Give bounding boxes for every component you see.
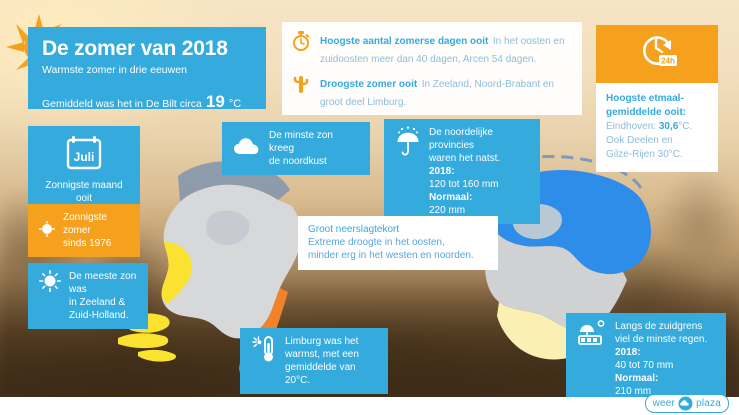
callout-text: Limburg was het warmst, met een gemiddel… [285,335,377,387]
callout-line-1: De noordelijke provincies [429,126,529,152]
callout-line-1: De meeste zon was [69,270,137,296]
callout-text: De meeste zon was in Zeeland & Zuid-Holl… [69,270,137,322]
callout-text: De minste zon kreeg de noordkust [269,129,359,168]
fact-title: Hoogste aantal zomerse dagen ooit [320,36,488,47]
callout-minste-zon: De minste zon kreeg de noordkust [222,122,370,175]
callout-line-1: De minste zon kreeg [269,129,359,155]
header-average-temperature: Gemiddeld was het in De Bilt circa 19 °C [42,92,252,112]
calendar-month-label: Juli [74,150,95,164]
callout-noordelijke-provincies: De noordelijke provincies waren het nats… [384,119,540,224]
cactus-icon [290,74,312,98]
logo-word-left: weer [653,398,675,409]
header-average-label: Gemiddeld was het in De Bilt circa [42,98,202,110]
bottom-strip [0,397,739,415]
callout-line-2: viel de minste regen. [615,333,707,346]
callout-line-1: Limburg was het [285,335,377,348]
stopwatch-icon [290,31,312,55]
callout-limburg-warmst: Limburg was het warmst, met een gemiddel… [240,328,388,394]
measure-label-2018: 2018: [615,347,641,358]
header-subtitle: Warmste zomer in drie eeuwen [42,64,252,76]
page-title: De zomer van 2018 [42,36,252,62]
fact-body: Hoogste aantal zomerse dagen ooit In het… [320,31,572,67]
callout-neerslagtekort: Groot neerslagtekort Extreme droogte in … [298,216,498,270]
callout-zonnigste-zomer: Zonnigste zomer sinds 1976 [28,204,140,257]
callout-text: Groot neerslagtekort Extreme droogte in … [308,223,474,262]
callout-measure-normaal: Normaal: 220 mm [429,191,529,217]
callout-line-2: warmst, met een [285,348,377,361]
header-average-unit: °C [229,98,241,110]
fact-zomerse-dagen: Hoogste aantal zomerse dagen ooit In het… [290,31,572,67]
callout-text: Langs de zuidgrens viel de minste regen.… [615,320,707,398]
weerplaza-logo[interactable]: weer plaza [645,394,729,413]
umbrella-rain-icon [395,126,421,160]
callout-line-1: Extreme droogte in het oosten, [308,236,474,249]
callout-text: Zonnigste zomer sinds 1976 [63,211,129,250]
callout-line-1: Zonnigste maand [45,179,122,192]
callout-line-2: in Zeeland & [69,296,137,309]
callout-measure-2018: 2018: 40 tot 70 mm [615,346,707,372]
cloud-icon [233,137,261,161]
callout-line-1: Langs de zuidgrens [615,320,707,333]
infographic-canvas: De zomer van 2018 Warmste zomer in drie … [0,0,739,415]
measure-label-normaal: Normaal: [429,192,472,203]
measure-value-2018: 40 tot 70 mm [615,359,707,372]
card-city-label: Eindhoven: [606,121,656,132]
card-body: Hoogste etmaal-gemiddelde ooit: Eindhove… [596,83,718,172]
facts-panel: Hoogste aantal zomerse dagen ooit In het… [282,22,582,115]
card-extra-line-1: Ook Deelen en [606,135,673,146]
callout-text: De noordelijke provincies waren het nats… [429,126,529,217]
cloud-icon [678,396,693,411]
callout-title: Groot neerslagtekort [308,223,474,236]
callout-line-3: gemiddelde van 20°C. [285,361,377,387]
callout-zonnigste-maand: Juli Zonnigste maand ooit [28,126,140,215]
callout-line-2: de noordkust [269,155,359,168]
thermometer-sun-icon [251,335,277,367]
rain-border-icon [577,320,607,350]
callout-measure-2018: 2018: 120 tot 160 mm [429,165,529,191]
card-hoogste-etmaalgemiddelde: 24h Hoogste etmaal-gemiddelde ooit: Eind… [596,25,718,172]
measure-label-normaal: Normaal: [615,373,658,384]
calendar-icon: Juli [65,135,103,175]
fact-droogste-zomer: Droogste zomer ooit In Zeeland, Noord-Br… [290,74,572,110]
callout-line-2: sinds 1976 [63,237,129,250]
card-city-value: 30,6 [659,121,678,132]
card-city-unit: °C. [678,121,692,132]
callout-line-2: minder erg in het westen en noorden. [308,249,474,262]
callout-line-1: Zonnigste zomer [63,211,129,237]
callout-meeste-zon: De meeste zon was in Zeeland & Zuid-Holl… [28,263,148,329]
clock-24h-icon: 24h [635,32,679,77]
card-badge-24h: 24h [661,56,675,65]
card-header: 24h [596,25,718,83]
sun-rays-icon [39,270,61,296]
measure-value-2018: 120 tot 160 mm [429,178,529,191]
card-title: Hoogste etmaal-gemiddelde ooit: [606,93,686,118]
header-average-value: 19 [206,92,225,112]
fact-body: Droogste zomer ooit In Zeeland, Noord-Br… [320,74,572,110]
callout-text: Zonnigste maand ooit [45,179,122,205]
header-panel: De zomer van 2018 Warmste zomer in drie … [28,27,266,109]
callout-line-2: waren het natst. [429,152,529,165]
measure-label-2018: 2018: [429,166,455,177]
callout-line-3: Zuid-Holland. [69,309,137,322]
logo-word-right: plaza [696,398,721,409]
callout-zuidgrens-regen: Langs de zuidgrens viel de minste regen.… [566,313,726,405]
card-extra-line-2: Gilze-Rijen 30°C. [606,149,683,160]
fact-title: Droogste zomer ooit [320,79,417,90]
sun-dot-icon [39,221,55,241]
